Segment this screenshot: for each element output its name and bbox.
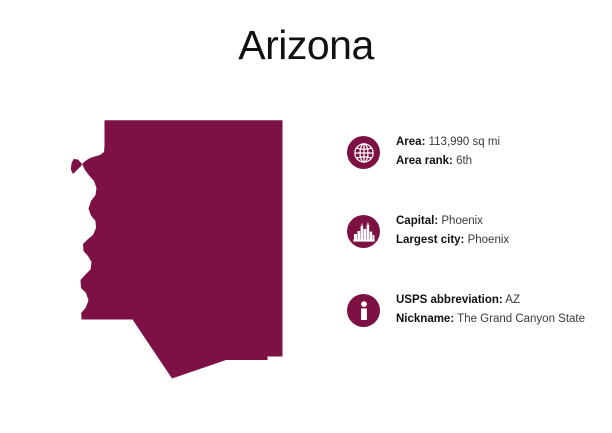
info-value: The Grand Canyon State: [457, 313, 585, 325]
state-map: Phoenix: [70, 108, 300, 386]
map-city-label: Phoenix: [257, 376, 302, 389]
map-city-marker[interactable]: Phoenix: [238, 376, 302, 389]
cityscape-icon: [347, 215, 380, 248]
info-key: Nickname:: [396, 313, 454, 325]
page-title: Arizona: [0, 22, 612, 68]
state-fact-card: Arizona Phoenix: [0, 0, 612, 433]
info-block-area: Area: 113,990 sq mi Area rank: 6th: [347, 131, 599, 191]
info-line: Nickname: The Grand Canyon State: [396, 310, 599, 329]
info-value: Phoenix: [468, 234, 510, 246]
map-pin-dot-icon: [238, 377, 250, 389]
info-value: AZ: [505, 294, 520, 306]
info-line: USPS abbreviation: AZ: [396, 291, 599, 310]
info-key: USPS abbreviation:: [396, 294, 503, 306]
info-block-identity: USPS abbreviation: AZ Nickname: The Gran…: [347, 289, 599, 349]
info-key: Capital:: [396, 215, 438, 227]
info-block-capital: Capital: Phoenix Largest city: Phoenix: [347, 210, 599, 270]
info-key: Area:: [396, 136, 425, 148]
info-key: Area rank:: [396, 155, 453, 167]
arizona-outline-path: [71, 120, 283, 378]
arizona-map-shape: [70, 108, 300, 386]
info-key: Largest city:: [396, 234, 464, 246]
info-value: 113,990 sq mi: [429, 136, 500, 148]
globe-icon: [347, 136, 380, 169]
info-line: Area rank: 6th: [396, 152, 599, 171]
info-text-capital: Capital: Phoenix Largest city: Phoenix: [396, 210, 599, 249]
info-value: Phoenix: [441, 215, 483, 227]
info-line: Capital: Phoenix: [396, 212, 599, 231]
info-text-identity: USPS abbreviation: AZ Nickname: The Gran…: [396, 289, 599, 328]
state-info-panel: Area: 113,990 sq mi Area rank: 6th: [347, 131, 599, 349]
info-line: Area: 113,990 sq mi: [396, 133, 599, 152]
info-line: Largest city: Phoenix: [396, 231, 599, 250]
info-text-area: Area: 113,990 sq mi Area rank: 6th: [396, 131, 599, 170]
info-icon: [347, 294, 380, 327]
info-value: 6th: [456, 155, 472, 167]
